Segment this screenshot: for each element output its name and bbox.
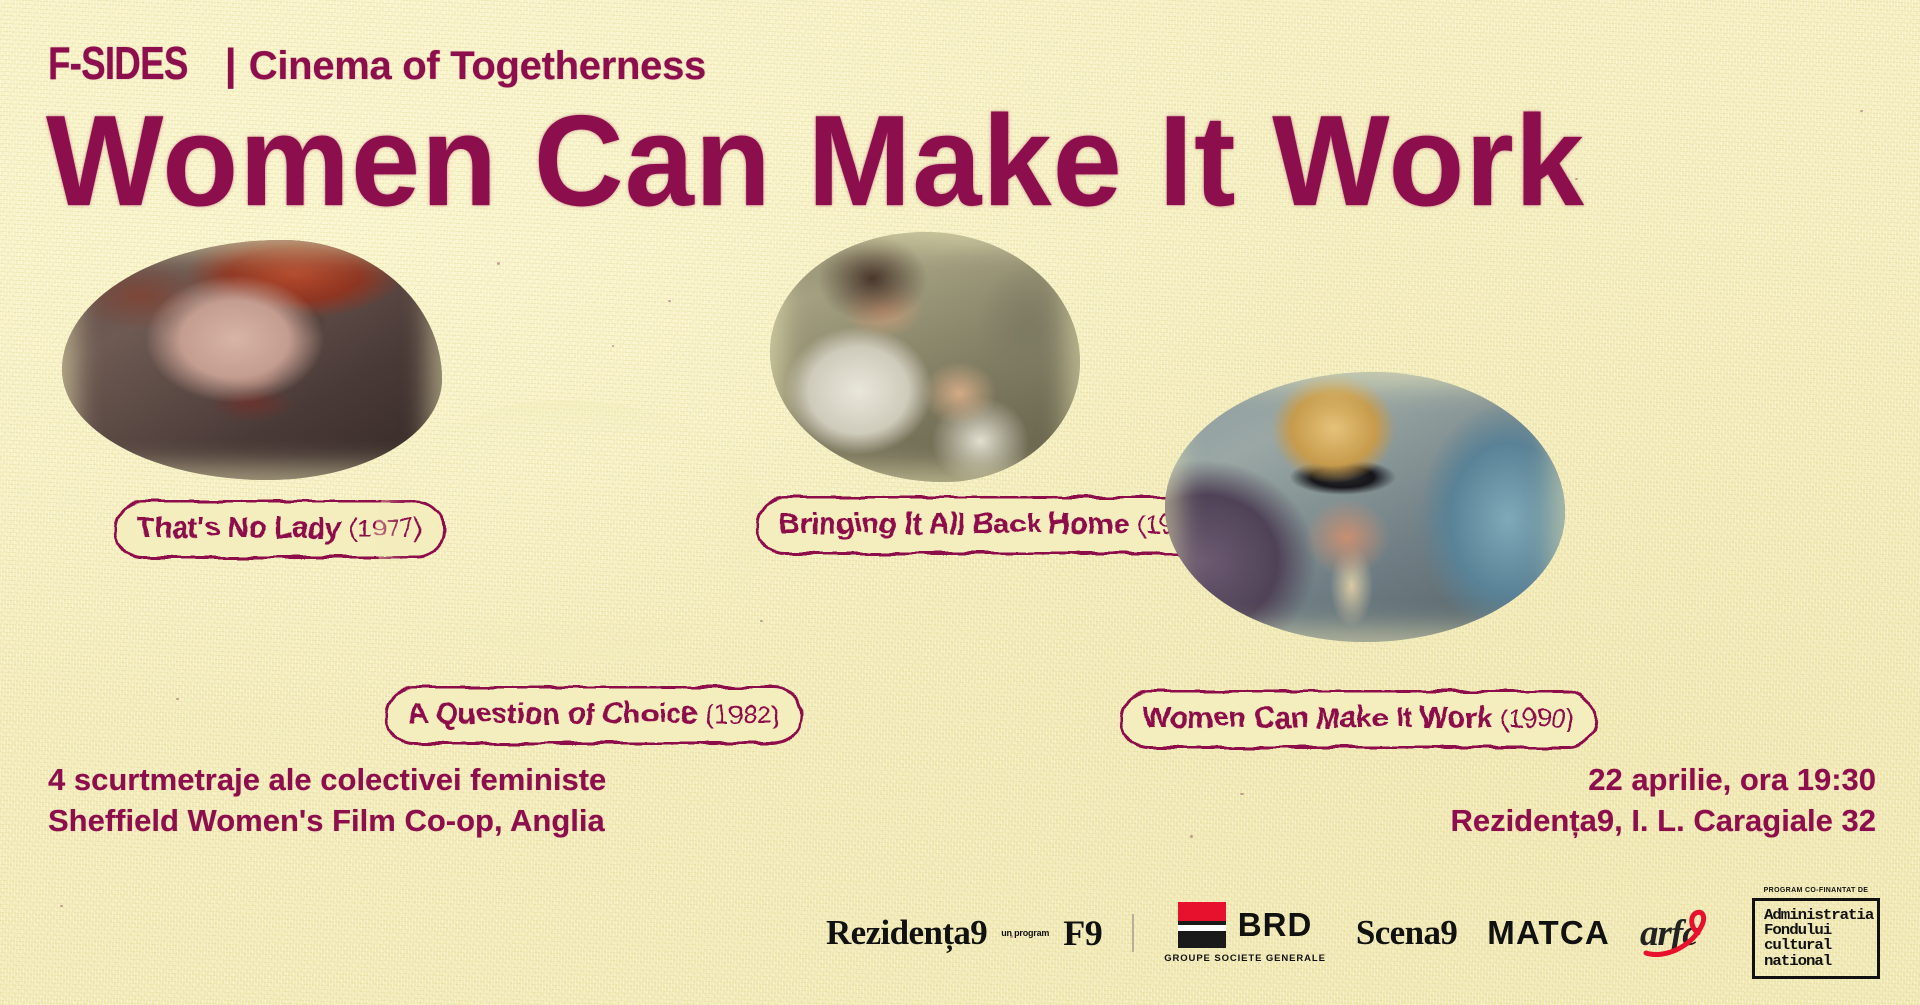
brd-wordmark: BRD [1238,906,1313,944]
page-title: Women Can Make It Work [46,96,1913,225]
film-title: A Question of Choice [408,698,698,731]
brd-mark-white [1178,925,1226,931]
arfc-swoosh-icon [1640,907,1722,959]
paper-speck [60,905,63,907]
film-photo-women-can-make-it-work [1165,372,1565,642]
screening-datetime-venue: 22 aprilie, ora 19:30 Rezidența9, I. L. … [1450,760,1876,842]
afcn-line-2: Fondului [1764,923,1831,938]
afcn-line-4: national [1764,954,1831,969]
brand-fsides: F-SIDES [48,36,188,90]
screening-datetime: 22 aprilie, ora 19:30 [1450,760,1876,801]
screening-venue: Rezidența9, I. L. Caragiale 32 [1450,801,1876,842]
brd-mark-red [1178,902,1226,921]
brand-separator: | [224,40,236,90]
film-title: Bringing It All Back Home [779,508,1129,541]
afcn-box: Administratia Fondului cultural national [1752,898,1880,979]
film-label-women-can-make-it-work: Women Can Make It Work (1990) [1120,690,1597,749]
afcn-line-1: Administratia [1764,908,1873,923]
logo-divider [1132,914,1134,952]
film-label-a-question-of-choice: A Question of Choice (1982) [385,686,803,745]
paper-speck [1190,835,1193,838]
paper-speck [1240,793,1244,795]
paper-speck [176,698,179,700]
film-photo-image [1165,372,1565,642]
afcn-line-3: cultural [1764,938,1831,953]
logo-afcn: PROGRAM CO-FINANTAT DE Administratia Fon… [1752,887,1880,979]
brand-tagline: Cinema of Togetherness [249,44,706,89]
brand-line: F-SIDES | Cinema of Togetherness [48,36,706,90]
description-line-1: 4 scurtmetraje ale colectivei feministe [48,760,606,801]
film-photo-bringing-it-all-back-home [770,232,1080,482]
paper-speck [668,300,671,302]
film-photo-a-question-of-choice [375,400,765,660]
logo-f9: F9 [1063,912,1102,954]
film-photo-image [770,232,1080,482]
poster-canvas: F-SIDES | Cinema of Togetherness Women C… [0,0,1920,1005]
brd-row: BRD [1178,902,1313,948]
brd-subtitle: GROUPE SOCIETE GENERALE [1164,953,1326,964]
logo-matca: MATCA [1487,914,1610,952]
logo-scena9: Scena9 [1356,913,1457,953]
film-photo-image [375,400,765,660]
screening-description: 4 scurtmetraje ale colectivei feministe … [48,760,606,842]
paper-speck [497,262,500,265]
paper-speck [612,345,614,347]
film-year: (1990) [1500,703,1574,734]
logo-un-program-label: un program [1001,928,1049,938]
logo-arfc: arfc [1640,907,1722,959]
logo-rezidenta9: Rezidența9 [826,913,987,953]
sponsor-bar: Rezidența9 un program F9 BRD GROUPE SOCI… [826,887,1880,979]
description-line-2: Sheffield Women's Film Co-op, Anglia [48,801,606,842]
film-title: That's No Lady [137,512,341,545]
film-label-bringing-it-all-back-home: Bringing It All Back Home (1987) [756,496,1234,555]
film-title: Women Can Make It Work [1143,702,1492,735]
logo-brd: BRD GROUPE SOCIETE GENERALE [1164,902,1326,964]
film-year: (1982) [706,699,780,730]
brd-mark-icon [1178,902,1226,948]
afcn-cofinance-note: PROGRAM CO-FINANTAT DE [1764,887,1869,894]
